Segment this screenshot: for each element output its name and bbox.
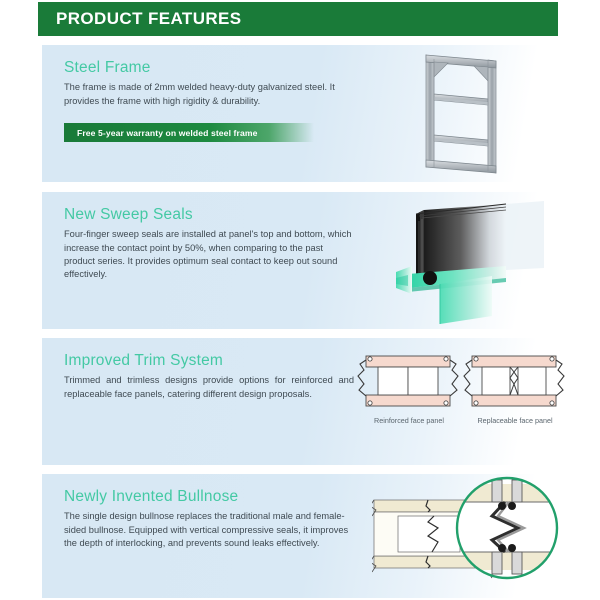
feature-description: The single design bullnose replaces the … — [64, 510, 354, 550]
trim-cross-section-replaceable-icon — [460, 350, 568, 412]
steel-frame-icon — [400, 47, 560, 181]
page-title: PRODUCT FEATURES — [38, 9, 242, 29]
feature-title: Improved Trim System — [64, 352, 354, 369]
feature-title: Newly Invented Bullnose — [64, 488, 354, 505]
feature-panel-bullnose: Newly Invented Bullnose The single desig… — [42, 474, 558, 598]
feature-panel-trim-system: Improved Trim System Trimmed and trimles… — [42, 338, 558, 465]
feature-text-block: Improved Trim System Trimmed and trimles… — [64, 352, 354, 401]
feature-text-block: Newly Invented Bullnose The single desig… — [64, 488, 354, 550]
sweep-seal-icon — [394, 196, 594, 324]
trim-cross-section-reinforced-icon — [354, 350, 462, 412]
caption-replaceable-face-panel: Replaceable face panel — [460, 416, 570, 425]
feature-panel-sweep-seals: New Sweep Seals Four-finger sweep seals … — [42, 192, 558, 329]
feature-description: Four-finger sweep seals are installed at… — [64, 228, 354, 282]
product-features-page: PRODUCT FEATURES Steel Frame The frame i… — [0, 0, 600, 600]
feature-text-block: New Sweep Seals Four-finger sweep seals … — [64, 206, 354, 282]
page-header-bar: PRODUCT FEATURES — [38, 2, 558, 36]
feature-title: New Sweep Seals — [64, 206, 354, 223]
warranty-ribbon-label: Free 5-year warranty on welded steel fra… — [64, 128, 257, 138]
bullnose-interlock-icon — [372, 476, 572, 596]
feature-text-block: Steel Frame The frame is made of 2mm wel… — [64, 59, 354, 108]
warranty-ribbon: Free 5-year warranty on welded steel fra… — [64, 123, 314, 142]
feature-panel-steel-frame: Steel Frame The frame is made of 2mm wel… — [42, 45, 558, 182]
feature-title: Steel Frame — [64, 59, 354, 76]
feature-description: Trimmed and trimless designs provide opt… — [64, 374, 354, 401]
feature-description: The frame is made of 2mm welded heavy-du… — [64, 81, 354, 108]
caption-reinforced-face-panel: Reinforced face panel — [354, 416, 464, 425]
